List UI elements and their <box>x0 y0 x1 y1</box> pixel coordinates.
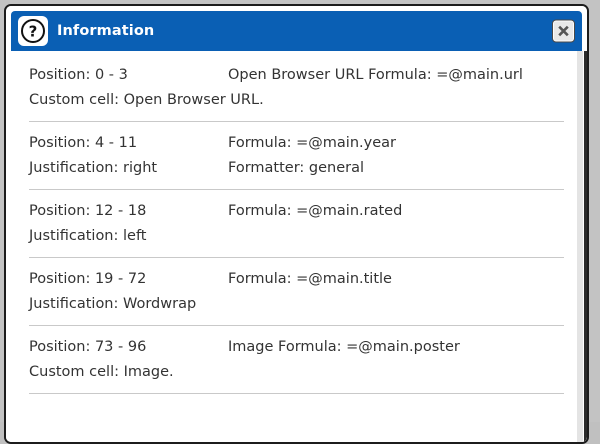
information-dialog: ? Information Position: 0 - 3 Open Brows… <box>4 4 589 444</box>
detail-label: Justification: left <box>29 224 228 249</box>
detail-label: Justification: Wordwrap <box>29 292 228 317</box>
formula-label: Formula: =@main.title <box>228 267 392 292</box>
info-section: Position: 19 - 72 Formula: =@main.title … <box>29 258 564 326</box>
position-label: Position: 4 - 11 <box>29 131 228 156</box>
detail-label-secondary: Formatter: general <box>228 156 364 181</box>
info-row: Justification: right Formatter: general <box>29 156 564 181</box>
info-row: Custom cell: Image. <box>29 360 564 385</box>
dialog-titlebar[interactable]: ? Information <box>11 11 582 51</box>
info-section: Position: 12 - 18 Formula: =@main.rated … <box>29 190 564 258</box>
position-label: Position: 19 - 72 <box>29 267 228 292</box>
info-section: Position: 0 - 3 Open Browser URL Formula… <box>29 51 564 122</box>
info-section-list: Position: 0 - 3 Open Browser URL Formula… <box>6 51 587 394</box>
info-row: Position: 19 - 72 Formula: =@main.title <box>29 267 564 292</box>
info-row: Custom cell: Open Browser URL. <box>29 88 564 113</box>
position-label: Position: 12 - 18 <box>29 199 228 224</box>
position-label: Position: 73 - 96 <box>29 335 228 360</box>
dialog-right-border <box>584 51 587 443</box>
formula-label: Open Browser URL Formula: =@main.url <box>228 63 523 88</box>
detail-label: Custom cell: Image. <box>29 360 228 385</box>
titlebar-container: ? Information <box>6 6 587 51</box>
svg-text:?: ? <box>29 23 38 41</box>
scrollbar-gutter[interactable] <box>573 51 587 443</box>
detail-label: Justification: right <box>29 156 228 181</box>
scrollbar-track[interactable] <box>577 51 583 443</box>
formula-label: Image Formula: =@main.poster <box>228 335 460 360</box>
info-row: Justification: left <box>29 224 564 249</box>
page-title: Information <box>57 23 154 39</box>
info-row: Position: 73 - 96 Image Formula: =@main.… <box>29 335 564 360</box>
formula-label: Formula: =@main.year <box>228 131 396 156</box>
info-row: Position: 0 - 3 Open Browser URL Formula… <box>29 63 564 88</box>
question-mark-icon: ? <box>18 16 48 46</box>
info-row: Justification: Wordwrap <box>29 292 564 317</box>
position-label: Position: 0 - 3 <box>29 63 228 88</box>
info-section: Position: 73 - 96 Image Formula: =@main.… <box>29 326 564 394</box>
close-icon <box>557 25 570 38</box>
dialog-content: Position: 0 - 3 Open Browser URL Formula… <box>6 51 587 443</box>
detail-label: Custom cell: Open Browser URL. <box>29 88 264 113</box>
info-row: Position: 12 - 18 Formula: =@main.rated <box>29 199 564 224</box>
formula-label: Formula: =@main.rated <box>228 199 402 224</box>
close-button[interactable] <box>552 20 575 43</box>
info-section: Position: 4 - 11 Formula: =@main.year Ju… <box>29 122 564 190</box>
info-row: Position: 4 - 11 Formula: =@main.year <box>29 131 564 156</box>
